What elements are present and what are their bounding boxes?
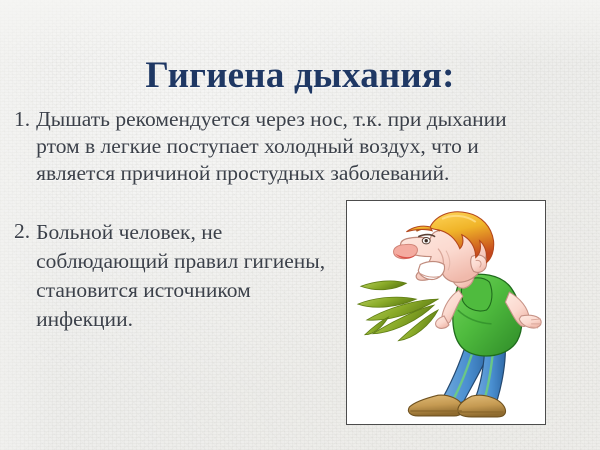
slide: Гигиена дыхания: 1. Дышать рекомендуется… <box>0 0 600 450</box>
list-item: 2. Больной человек, не соблюдающий прави… <box>14 218 344 334</box>
list-item-marker: 1. <box>14 106 36 133</box>
illustration-frame <box>346 200 546 425</box>
list-item: 1. Дышать рекомендуется через нос, т.к. … <box>14 106 554 187</box>
list-item-text: Больной человек, не соблюдающий правил г… <box>36 218 344 334</box>
list-item-text: Дышать рекомендуется через нос, т.к. при… <box>36 106 554 187</box>
list-item-marker: 2. <box>14 218 36 245</box>
sneezing-man-cartoon-icon <box>347 201 545 424</box>
page-title: Гигиена дыхания: <box>0 57 600 96</box>
